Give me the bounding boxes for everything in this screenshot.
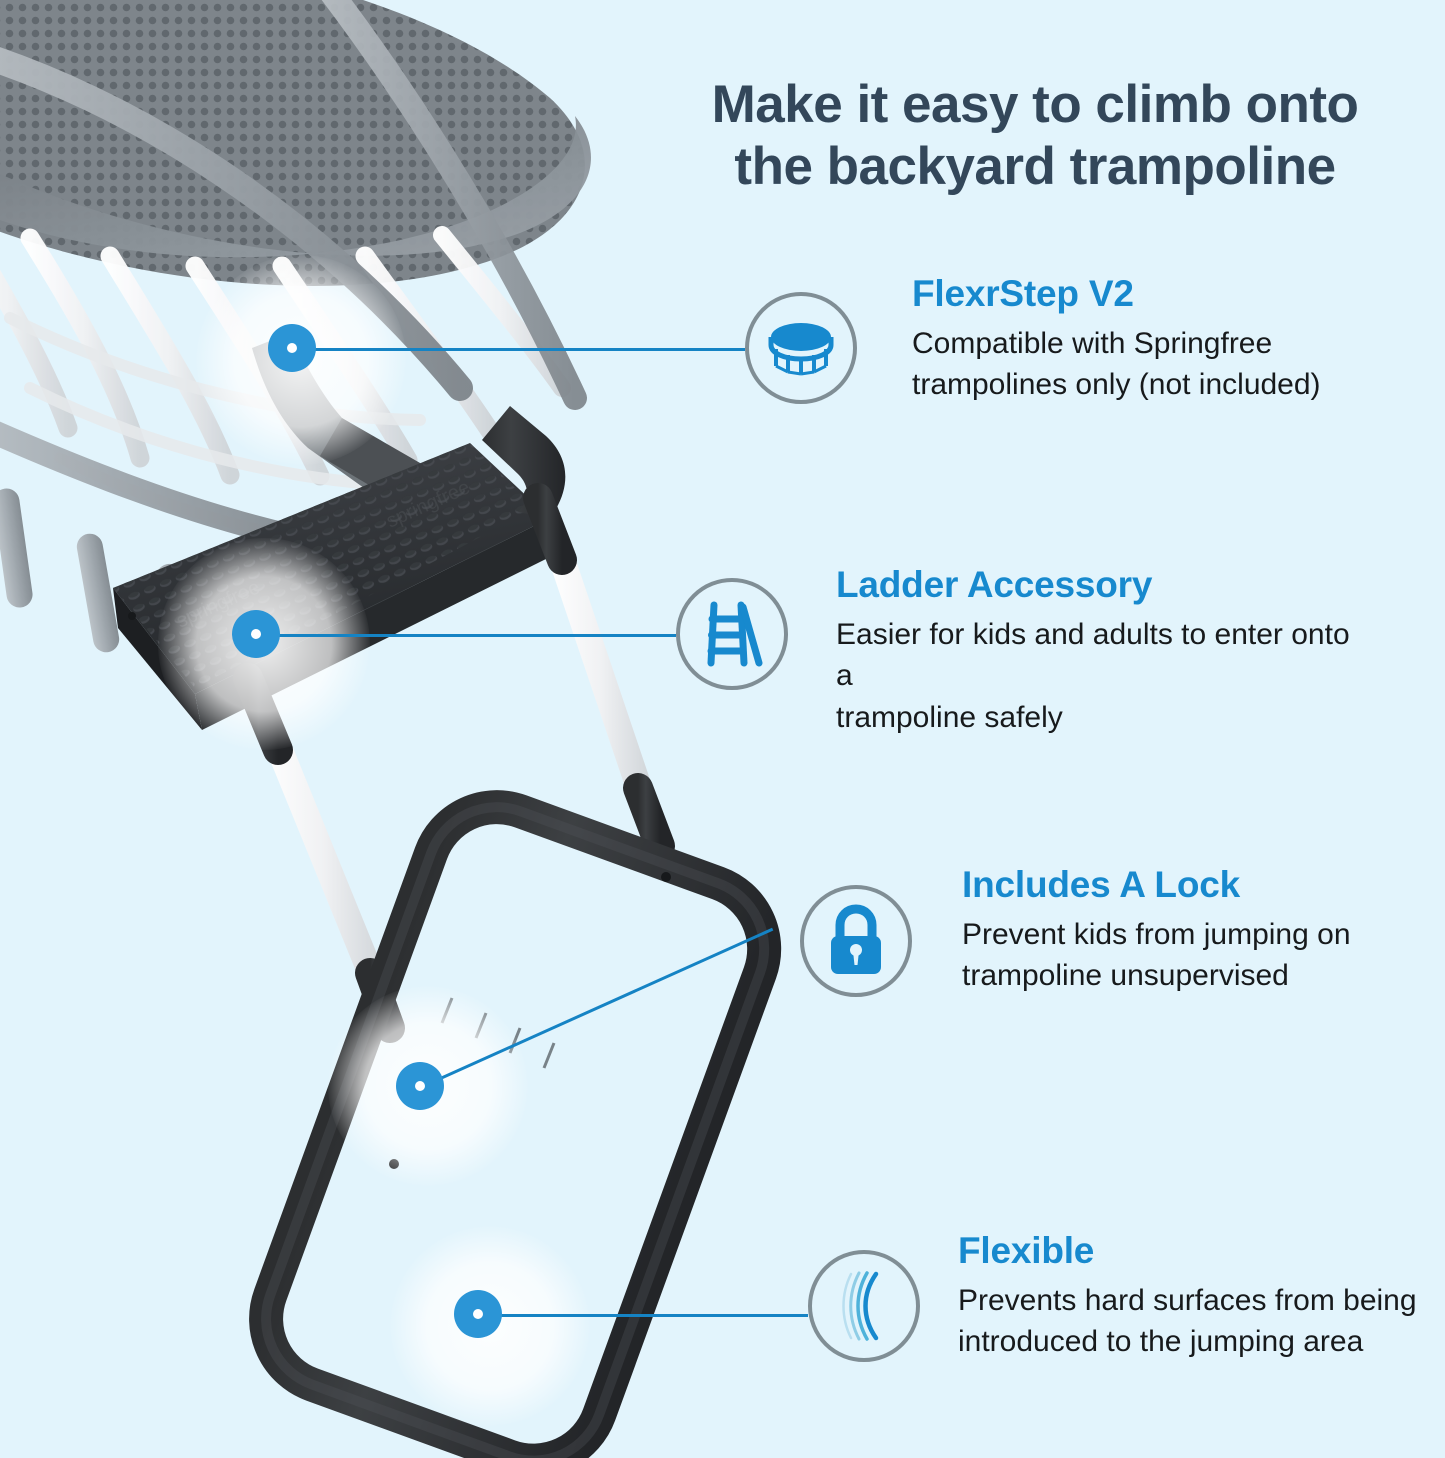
hotspot-flexrstep[interactable] bbox=[268, 324, 316, 372]
callout-desc-line-2: trampoline safely bbox=[836, 701, 1063, 734]
callout-title: Flexible bbox=[958, 1232, 1428, 1271]
leader-line-ladder bbox=[256, 634, 676, 637]
trampoline-icon bbox=[764, 311, 838, 385]
callout-title: FlexrStep V2 bbox=[912, 275, 1382, 314]
callout-desc-line-2: trampoline unsupervised bbox=[962, 959, 1289, 992]
product-image: springfree springfree bbox=[0, 0, 870, 1458]
callout-desc-line-2: trampolines only (not included) bbox=[912, 368, 1321, 401]
hotspot-lock[interactable] bbox=[396, 1062, 444, 1110]
icon-ring bbox=[808, 1250, 920, 1362]
callout-description: Prevent kids from jumping on trampoline … bbox=[962, 914, 1432, 997]
icon-ring bbox=[676, 578, 788, 690]
callout-text: Ladder Accessory Easier for kids and adu… bbox=[836, 566, 1366, 738]
callout-description: Prevents hard surfaces from being introd… bbox=[958, 1280, 1428, 1363]
headline-line-1: Make it easy to climb onto bbox=[655, 74, 1415, 136]
flex-arcs-icon bbox=[829, 1266, 899, 1346]
callout-desc-line-2: introduced to the jumping area bbox=[958, 1325, 1363, 1358]
lock-icon bbox=[823, 904, 889, 978]
headline-line-2: the backyard trampoline bbox=[655, 136, 1415, 198]
callout-title: Ladder Accessory bbox=[836, 566, 1366, 605]
ladder-icon bbox=[697, 597, 767, 671]
leader-line-flexible bbox=[478, 1314, 808, 1317]
callout-text: FlexrStep V2 Compatible with Springfree … bbox=[912, 275, 1382, 406]
callout-text: Includes A Lock Prevent kids from jumpin… bbox=[962, 866, 1432, 997]
icon-ring bbox=[800, 885, 912, 997]
callout-desc-line-1: Compatible with Springfree bbox=[912, 327, 1272, 360]
callout-desc-line-1: Easier for kids and adults to enter onto… bbox=[836, 618, 1350, 692]
icon-ring bbox=[745, 292, 857, 404]
leader-line-lock bbox=[420, 928, 773, 1089]
hotspot-flexible[interactable] bbox=[454, 1290, 502, 1338]
hotspot-ladder[interactable] bbox=[232, 610, 280, 658]
callout-desc-line-1: Prevent kids from jumping on bbox=[962, 918, 1351, 951]
callout-title: Includes A Lock bbox=[962, 866, 1432, 905]
page-title: Make it easy to climb onto the backyard … bbox=[655, 74, 1415, 198]
callout-text: Flexible Prevents hard surfaces from bei… bbox=[958, 1232, 1428, 1363]
leader-line-flexrstep bbox=[292, 348, 745, 351]
callout-desc-line-1: Prevents hard surfaces from being bbox=[958, 1284, 1417, 1317]
callout-description: Compatible with Springfree trampolines o… bbox=[912, 323, 1382, 406]
callout-description: Easier for kids and adults to enter onto… bbox=[836, 614, 1366, 738]
infographic-canvas: springfree springfree bbox=[0, 0, 1445, 1445]
svg-text:springfree: springfree bbox=[383, 476, 473, 532]
